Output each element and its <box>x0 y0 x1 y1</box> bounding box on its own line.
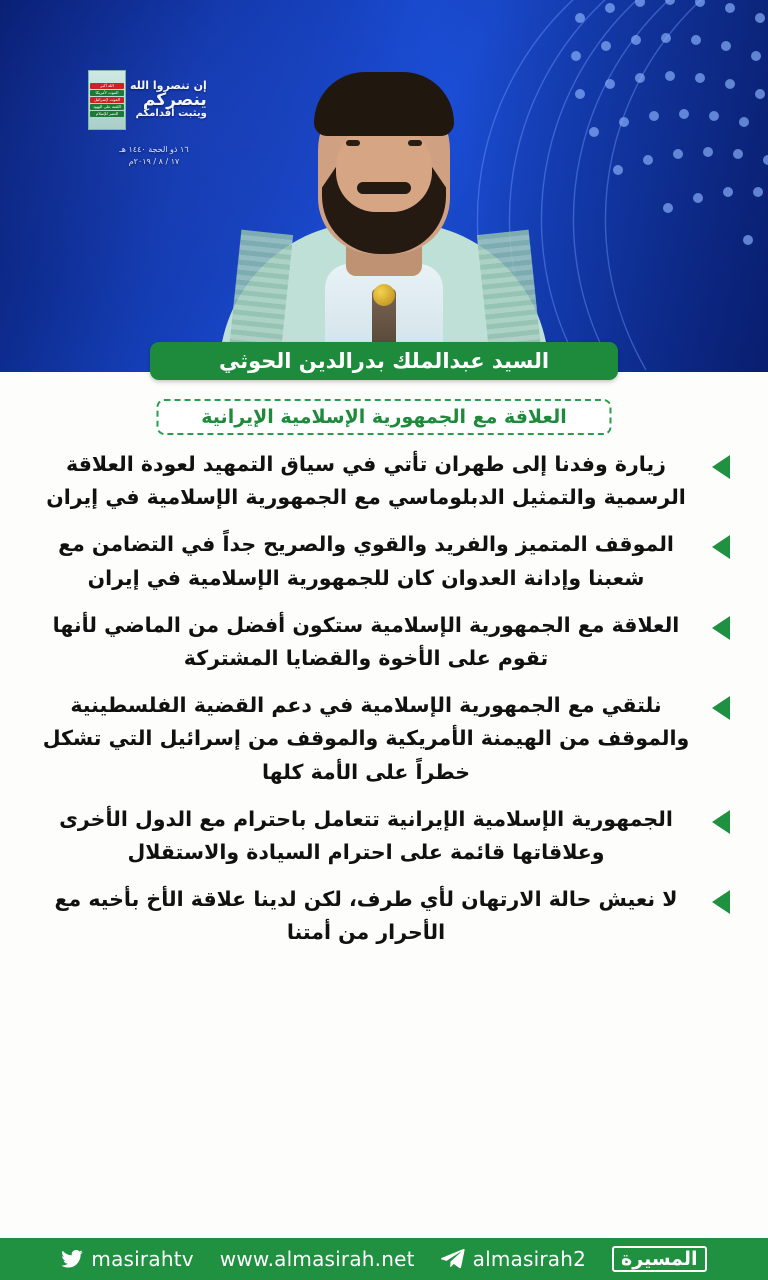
telegram-plane-icon <box>441 1249 465 1269</box>
triangle-bullet-icon <box>712 890 730 914</box>
slogan-emblem: الله أكبر الموت لأمريكا الموت لإسرائيل ا… <box>88 70 126 130</box>
watermark-dates: ١٦ ذو الحجة ١٤٤٠ هـ ١٧ / ٨ / ٢٠١٩م <box>88 144 220 168</box>
triangle-bullet-icon <box>712 455 730 479</box>
twitter-handle-text: masirahtv <box>91 1247 193 1271</box>
slogan-line-3: الموت لإسرائيل <box>90 97 124 103</box>
quote-list: زيارة وفدنا إلى طهران تأتي في سياق التمه… <box>0 448 768 1238</box>
channel-watermark: إن تنصروا الله ينصركم ويثبت أقدامكم الله… <box>88 62 220 186</box>
website-link[interactable]: www.almasirah.net <box>220 1247 415 1271</box>
list-item: زيارة وفدنا إلى طهران تأتي في سياق التمه… <box>34 448 734 514</box>
list-item-text: الجمهورية الإسلامية الإيرانية تتعامل باح… <box>34 803 698 869</box>
footer-bar: masirahtv www.almasirah.net almasirah2 ا… <box>0 1238 768 1280</box>
slogan-line-1: الله أكبر <box>90 83 124 89</box>
speaker-name-text: السيد عبدالملك بدرالدين الحوثي <box>219 349 549 373</box>
triangle-bullet-icon <box>712 535 730 559</box>
slogan-line-2: الموت لأمريكا <box>90 90 124 96</box>
topic-badge: العلاقة مع الجمهورية الإسلامية الإيرانية <box>157 399 612 435</box>
list-item-text: لا نعيش حالة الارتهان لأي طرف، لكن لدينا… <box>34 883 698 949</box>
twitter-link[interactable]: masirahtv <box>61 1247 193 1271</box>
verse-line-3: ويثبت أقدامكم <box>130 109 207 120</box>
list-item-text: زيارة وفدنا إلى طهران تأتي في سياق التمه… <box>34 448 698 514</box>
twitter-bird-icon <box>61 1250 83 1268</box>
gregorian-date: ١٧ / ٨ / ٢٠١٩م <box>88 156 220 168</box>
infographic-page: إن تنصروا الله ينصركم ويثبت أقدامكم الله… <box>0 0 768 1280</box>
list-item: نلتقي مع الجمهورية الإسلامية في دعم القض… <box>34 689 734 789</box>
list-item: لا نعيش حالة الارتهان لأي طرف، لكن لدينا… <box>34 883 734 949</box>
website-url-text: www.almasirah.net <box>220 1247 415 1271</box>
almasirah-logo[interactable]: المسيرة <box>612 1246 707 1272</box>
list-item-text: الموقف المتميز والفريد والقوي والصريح جد… <box>34 528 698 594</box>
slogan-line-5: النصر للإسلام <box>90 111 124 117</box>
list-item: الموقف المتميز والفريد والقوي والصريح جد… <box>34 528 734 594</box>
speaker-portrait <box>0 0 768 372</box>
triangle-bullet-icon <box>712 616 730 640</box>
topic-text: العلاقة مع الجمهورية الإسلامية الإيرانية <box>201 406 566 428</box>
broadcast-photo: إن تنصروا الله ينصركم ويثبت أقدامكم الله… <box>0 0 768 372</box>
verse-line-2: ينصركم <box>130 92 207 110</box>
list-item: العلاقة مع الجمهورية الإسلامية ستكون أفض… <box>34 609 734 675</box>
watermark-verse: إن تنصروا الله ينصركم ويثبت أقدامكم <box>130 80 207 120</box>
list-item-text: العلاقة مع الجمهورية الإسلامية ستكون أفض… <box>34 609 698 675</box>
telegram-handle-text: almasirah2 <box>473 1247 586 1271</box>
triangle-bullet-icon <box>712 810 730 834</box>
list-item-text: نلتقي مع الجمهورية الإسلامية في دعم القض… <box>34 689 698 789</box>
triangle-bullet-icon <box>712 696 730 720</box>
hijri-date: ١٦ ذو الحجة ١٤٤٠ هـ <box>88 144 220 156</box>
list-item: الجمهورية الإسلامية الإيرانية تتعامل باح… <box>34 803 734 869</box>
telegram-link[interactable]: almasirah2 <box>441 1247 586 1271</box>
slogan-line-4: اللعنة على اليهود <box>90 104 124 110</box>
speaker-name-banner: السيد عبدالملك بدرالدين الحوثي <box>150 342 618 380</box>
